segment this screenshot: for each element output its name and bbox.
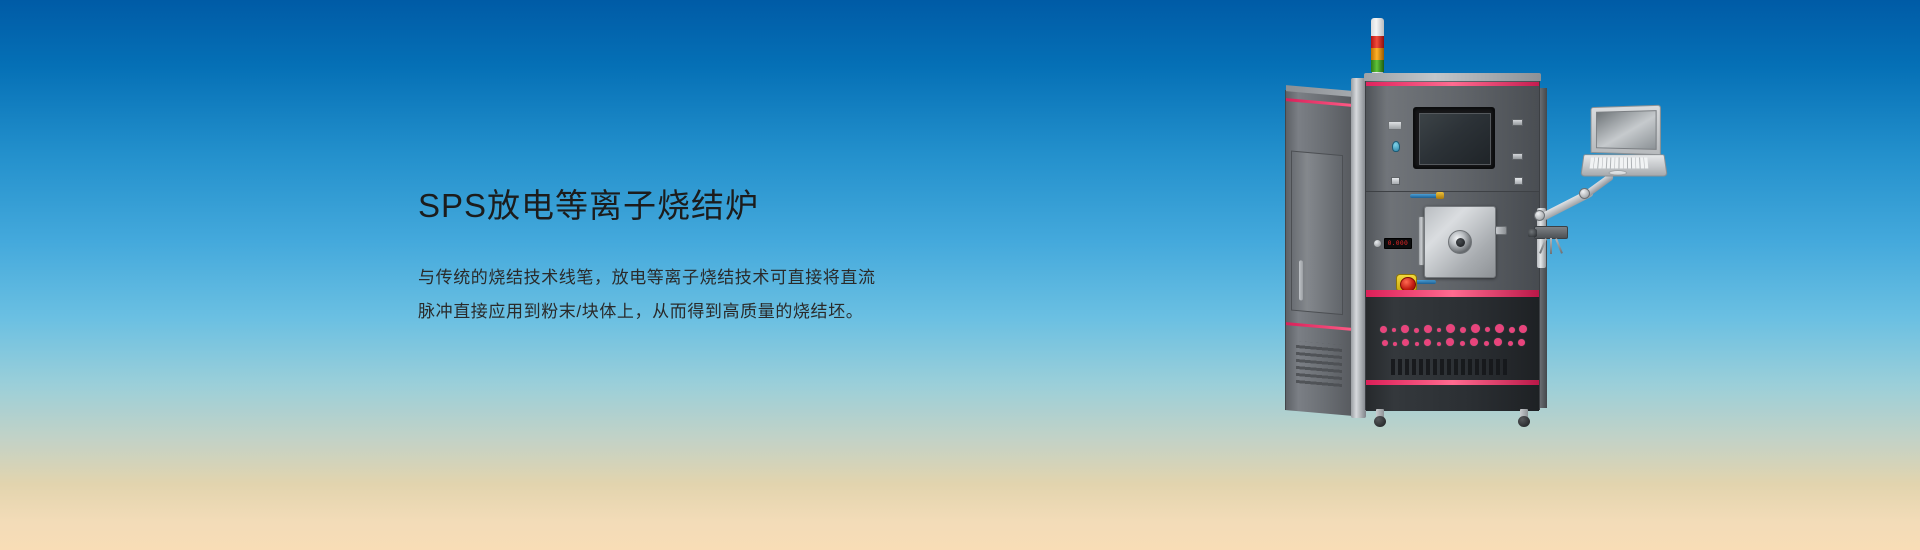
main-cabinet: 0.000 [1365, 80, 1540, 410]
vacuum-chamber-section: 0.000 [1366, 191, 1539, 296]
lower-ventilation-grille [1388, 359, 1508, 375]
description-line-2: 脉冲直接应用到粉末/块体上，从而得到高质量的烧结坯。 [418, 295, 1058, 329]
side-cabinet-top-edge [1286, 85, 1355, 97]
banner-copy: SPS放电等离子烧结炉 与传统的烧结技术线笔，放电等离子烧结技术可直接将直流 脉… [418, 185, 1058, 329]
laptop-trackpad-icon [1608, 170, 1627, 175]
control-laptop [1582, 106, 1666, 186]
digital-readout: 0.000 [1384, 238, 1412, 249]
side-cabinet-door [1291, 151, 1343, 316]
arm-joint [1579, 188, 1590, 199]
laptop-screen [1596, 110, 1657, 150]
key-switch-icon [1392, 141, 1400, 152]
touchscreen-display [1419, 113, 1491, 165]
hose-fitting [1436, 192, 1444, 199]
viewport-window-icon [1448, 230, 1472, 254]
accent-stripe [1286, 98, 1355, 107]
banner-description: 与传统的烧结技术线笔，放电等离子烧结技术可直接将直流 脉冲直接应用到粉末/块体上… [418, 261, 1058, 329]
accent-stripe [1366, 82, 1539, 86]
reset-button [1514, 177, 1523, 185]
frame-pillar [1351, 78, 1366, 418]
arm-joint [1534, 210, 1545, 221]
description-line-1: 与传统的烧结技术线笔，放电等离子烧结技术可直接将直流 [418, 261, 1058, 295]
vacuum-chamber-door [1424, 206, 1496, 278]
sps-furnace-illustration: 0.000 [1285, 18, 1675, 518]
tower-lamp-green-icon [1371, 60, 1384, 72]
caster-wheel [1518, 409, 1530, 427]
lower-cabinet-panel [1366, 296, 1539, 411]
readout-value: 0.000 [1388, 240, 1409, 247]
tower-cap-icon [1371, 18, 1384, 36]
chamber-door-latch [1495, 226, 1507, 235]
camera-lens-icon [1528, 229, 1537, 237]
power-button [1391, 177, 1400, 185]
page-title: SPS放电等离子烧结炉 [418, 185, 1058, 227]
laptop-base [1580, 154, 1667, 176]
cabinet-top-rail [1364, 73, 1541, 81]
laptop-keyboard-icon [1590, 158, 1649, 169]
control-touchscreen [1413, 107, 1495, 169]
decorative-dot-pattern [1380, 324, 1528, 350]
hero-banner: SPS放电等离子烧结炉 与传统的烧结技术线笔，放电等离子烧结技术可直接将直流 脉… [0, 0, 1920, 550]
mode-selector-switch [1388, 121, 1402, 130]
accent-stripe [1286, 322, 1355, 331]
stop-switch [1512, 153, 1523, 160]
accent-stripe [1366, 290, 1539, 297]
cabinet-handle-icon [1299, 260, 1303, 300]
ventilation-grille [1296, 341, 1342, 389]
camera-mount [1542, 238, 1560, 258]
side-cabinet [1285, 90, 1355, 416]
start-switch [1512, 119, 1523, 126]
laptop-lid [1591, 105, 1661, 156]
monitoring-camera [1528, 226, 1574, 260]
caster-wheel [1374, 409, 1386, 427]
accent-stripe [1366, 380, 1539, 385]
tower-lamp-red-icon [1371, 36, 1384, 48]
control-knob [1373, 239, 1382, 248]
tower-lamp-amber-icon [1371, 48, 1384, 60]
coolant-hose [1410, 194, 1438, 198]
